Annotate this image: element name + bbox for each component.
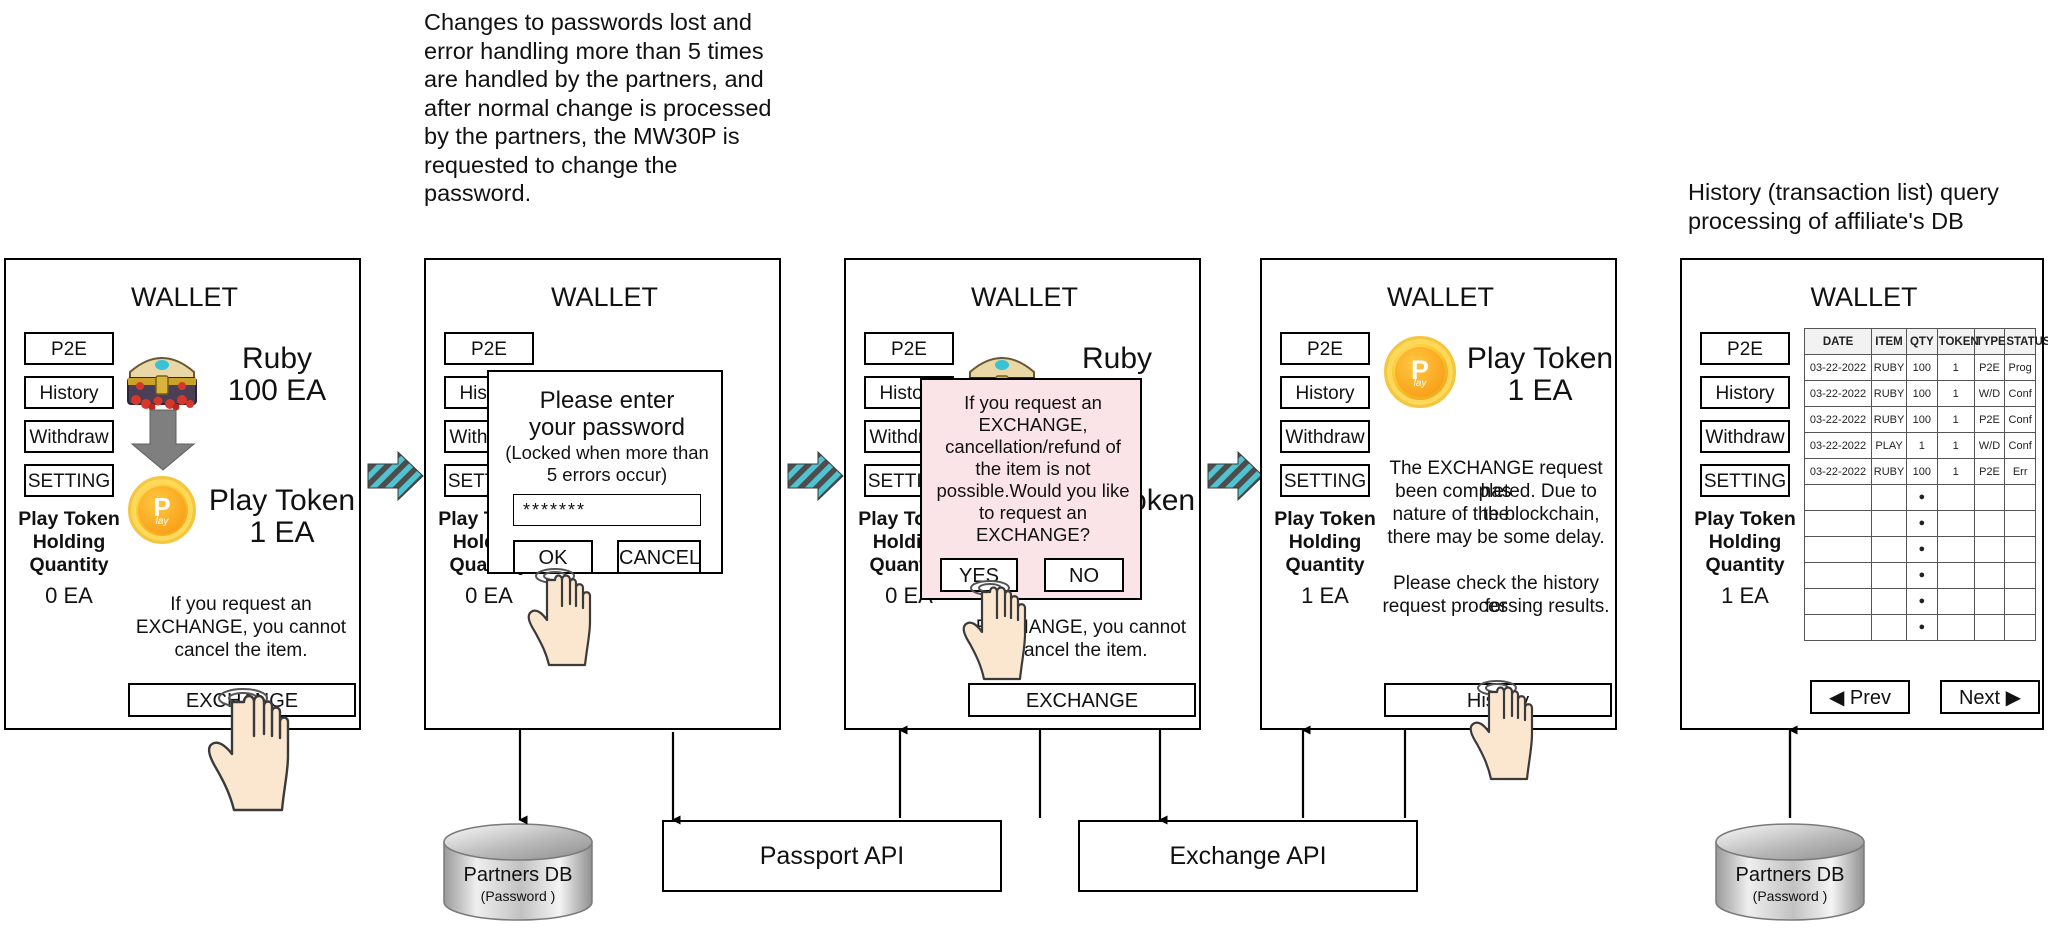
cancel-button[interactable]: CANCEL <box>617 540 701 574</box>
annotation-history-note: History (transaction list) query process… <box>1688 178 2038 235</box>
asset-to-quantity: 1 EA <box>1464 374 1616 408</box>
result-message-line3: nature of the blockchain, <box>1380 503 1612 526</box>
table-cell-empty <box>1937 563 1974 589</box>
partners-db-sublabel: (Password ) <box>438 888 598 904</box>
table-cell: 03-22-2022 <box>1805 407 1872 433</box>
asset-to-name: Play Token <box>202 484 362 518</box>
table-header-status: STATUS <box>2005 329 2036 355</box>
table-header-date: DATE <box>1805 329 1872 355</box>
hand-cursor-icon <box>955 572 1033 684</box>
table-cell-empty: ● <box>1907 563 1938 589</box>
table-header-row: DATEITEMQTYTOKENTYPESTATUS <box>1805 329 2036 355</box>
table-cell-empty: ● <box>1907 511 1938 537</box>
panel-wallet-exchange: WALLET P2E History Withdraw SETTING Play… <box>4 258 361 730</box>
hand-cursor-icon <box>520 560 598 670</box>
table-cell: 1 <box>1937 355 1974 381</box>
table-cell: Conf <box>2005 407 2036 433</box>
panel-history-list: WALLET P2E History Withdraw SETTING Play… <box>1680 258 2044 730</box>
asset-from-name: Ruby <box>1042 342 1192 376</box>
confirm-message-line1: If you request an <box>922 392 1144 414</box>
table-cell-empty <box>1974 485 2005 511</box>
holding-label-line1: Play Token <box>1268 508 1382 531</box>
annotation-password-note: Changes to passwords lost and error hand… <box>424 8 784 208</box>
table-cell-empty <box>1937 485 1974 511</box>
table-row-empty: ● <box>1805 511 2036 537</box>
table-cell: Prog <box>2005 355 2036 381</box>
table-row-empty: ● <box>1805 615 2036 641</box>
table-header-type: TYPE <box>1974 329 2005 355</box>
table-cell-empty <box>1872 589 1907 615</box>
table-cell: P2E <box>1974 355 2005 381</box>
table-cell-empty <box>1872 563 1907 589</box>
sidebar-item-p2e[interactable]: P2E <box>1280 332 1370 365</box>
table-cell: RUBY <box>1872 381 1907 407</box>
holding-label-line1: Play Token <box>1686 508 1804 531</box>
table-row[interactable]: 03-22-2022RUBY1001W/DConf <box>1805 381 2036 407</box>
table-cell: 1 <box>1937 459 1974 485</box>
confirm-message-line5: possible.Would you like <box>922 480 1144 502</box>
transaction-history-table: DATEITEMQTYTOKENTYPESTATUS 03-22-2022RUB… <box>1804 328 2036 641</box>
sidebar-item-setting[interactable]: SETTING <box>24 464 114 497</box>
asset-from-quantity: 100 EA <box>202 374 352 408</box>
confirm-message-line3: cancellation/refund of <box>922 436 1144 458</box>
table-cell: P2E <box>1974 407 2005 433</box>
table-header-qty: QTY <box>1907 329 1938 355</box>
exchange-warning-line1: If you request an <box>126 593 356 616</box>
table-cell-empty <box>1974 511 2005 537</box>
table-cell: 100 <box>1907 355 1938 381</box>
holding-label-line3: Quantity <box>12 554 126 577</box>
table-cell-empty <box>1974 537 2005 563</box>
table-cell-empty <box>1805 537 1872 563</box>
table-cell-empty <box>1937 511 1974 537</box>
asset-from-name: Ruby <box>202 342 352 376</box>
treasure-chest-icon <box>120 338 204 410</box>
table-cell: Conf <box>2005 433 2036 459</box>
exchange-warning-line3: cancel the item. <box>126 639 356 662</box>
sidebar-item-withdraw[interactable]: Withdraw <box>24 420 114 453</box>
table-cell: Conf <box>2005 381 2036 407</box>
confirm-message-line4: the item is not <box>922 458 1144 480</box>
table-cell-empty <box>1805 563 1872 589</box>
table-cell: P2E <box>1974 459 2005 485</box>
dialog-title-line2: your password <box>489 413 725 442</box>
sidebar-item-withdraw[interactable]: Withdraw <box>1700 420 1790 453</box>
flow-connectors-up <box>0 718 2048 878</box>
panel-exchange-result: WALLET P2E History Withdraw SETTING Play… <box>1260 258 1617 730</box>
hand-cursor-icon <box>1462 672 1540 784</box>
holding-quantity-value: 0 EA <box>12 583 126 609</box>
table-row-empty: ● <box>1805 563 2036 589</box>
history-table: DATEITEMQTYTOKENTYPESTATUS 03-22-2022RUB… <box>1804 328 2036 641</box>
play-token-coin-icon: P lay <box>1384 336 1456 408</box>
table-cell: 100 <box>1907 381 1938 407</box>
flow-arrow-2-icon <box>788 450 844 502</box>
table-cell: 03-22-2022 <box>1805 381 1872 407</box>
table-cell: PLAY <box>1872 433 1907 459</box>
table-cell: W/D <box>1974 433 2005 459</box>
table-cell: 100 <box>1907 407 1938 433</box>
table-cell-empty <box>2005 615 2036 641</box>
confirm-message-line7: EXCHANGE? <box>922 524 1144 546</box>
table-row-empty: ● <box>1805 589 2036 615</box>
sidebar-item-setting[interactable]: SETTING <box>1280 464 1370 497</box>
holding-quantity-value: 1 EA <box>1268 583 1382 609</box>
table-cell: 03-22-2022 <box>1805 355 1872 381</box>
table-cell-empty <box>1805 589 1872 615</box>
table-cell-empty <box>1937 589 1974 615</box>
table-cell-empty <box>1974 589 2005 615</box>
table-cell-empty <box>1805 511 1872 537</box>
confirm-message-line6: to request an <box>922 502 1144 524</box>
table-cell: 03-22-2022 <box>1805 433 1872 459</box>
table-row[interactable]: 03-22-2022PLAY11W/DConf <box>1805 433 2036 459</box>
table-cell-empty: ● <box>1907 589 1938 615</box>
table-cell-empty <box>1805 485 1872 511</box>
holding-label-line2: Holding <box>12 531 126 554</box>
holding-label-line3: Quantity <box>1268 554 1382 577</box>
table-cell-empty: ● <box>1907 537 1938 563</box>
table-cell-empty <box>1974 615 2005 641</box>
table-row[interactable]: 03-22-2022RUBY1001P2EErr <box>1805 459 2036 485</box>
sidebar-item-history[interactable]: History <box>1700 376 1790 409</box>
dialog-subtitle-line1: (Locked when more than <box>489 442 725 464</box>
table-cell-empty <box>2005 589 2036 615</box>
table-cell: 1 <box>1907 433 1938 459</box>
password-dialog: Please enter your password (Locked when … <box>487 370 723 574</box>
password-input[interactable]: ******* <box>513 494 701 526</box>
exchange-confirm-dialog: If you request an EXCHANGE, cancellation… <box>920 378 1142 600</box>
table-cell-empty <box>1937 615 1974 641</box>
confirm-message-line2: EXCHANGE, <box>922 414 1144 436</box>
holding-label-line1: Play Token <box>12 508 126 531</box>
sidebar-item-withdraw[interactable]: Withdraw <box>1280 420 1370 453</box>
table-header-item: ITEM <box>1872 329 1907 355</box>
holding-label-line2: Holding <box>1268 531 1382 554</box>
convert-arrow-icon <box>130 410 196 472</box>
sidebar-item-setting[interactable]: SETTING <box>1700 464 1790 497</box>
table-cell-empty <box>1974 563 2005 589</box>
table-cell: Err <box>2005 459 2036 485</box>
table-cell-empty <box>1872 511 1907 537</box>
holding-label-line2: Holding <box>1686 531 1804 554</box>
flow-arrow-1-icon <box>368 450 424 502</box>
play-token-coin-icon: P lay <box>128 476 196 544</box>
dialog-title-line1: Please enter <box>489 386 725 415</box>
table-cell: 1 <box>1937 381 1974 407</box>
table-cell-empty <box>2005 511 2036 537</box>
table-cell: 1 <box>1937 433 1974 459</box>
sidebar-item-p2e[interactable]: P2E <box>444 332 534 365</box>
page-title: WALLET <box>846 282 1203 313</box>
table-cell-empty: ● <box>1907 485 1938 511</box>
table-row-empty: ● <box>1805 485 2036 511</box>
table-cell: 100 <box>1907 459 1938 485</box>
result-message-line4: there may be some delay. <box>1380 526 1612 549</box>
asset-to-name: Play Token <box>1464 342 1616 376</box>
flow-arrow-3-icon <box>1208 450 1264 502</box>
table-cell-empty <box>1805 615 1872 641</box>
page-title: WALLET <box>1262 282 1619 313</box>
sidebar-item-p2e[interactable]: P2E <box>864 332 954 365</box>
table-cell: 03-22-2022 <box>1805 459 1872 485</box>
holding-label-line3: Quantity <box>1686 554 1804 577</box>
page-title: WALLET <box>6 282 363 313</box>
table-cell-empty <box>1872 485 1907 511</box>
table-cell: RUBY <box>1872 459 1907 485</box>
result-message2-line2: request processing results. <box>1380 595 1612 618</box>
table-header-token: TOKEN <box>1937 329 1974 355</box>
table-cell: 1 <box>1937 407 1974 433</box>
table-row[interactable]: 03-22-2022RUBY1001P2EProg <box>1805 355 2036 381</box>
table-cell-empty: ● <box>1907 615 1938 641</box>
no-button[interactable]: NO <box>1044 558 1124 592</box>
prev-page-button[interactable]: ◀ Prev <box>1810 680 1910 714</box>
table-row-empty: ● <box>1805 537 2036 563</box>
page-title: WALLET <box>1682 282 2046 313</box>
sidebar-item-history[interactable]: History <box>24 376 114 409</box>
table-cell-empty <box>2005 563 2036 589</box>
table-cell: W/D <box>1974 381 2005 407</box>
table-cell-empty <box>2005 485 2036 511</box>
page-title: WALLET <box>426 282 783 313</box>
table-cell-empty <box>2005 537 2036 563</box>
exchange-button[interactable]: EXCHANGE <box>968 683 1196 717</box>
table-row[interactable]: 03-22-2022RUBY1001P2EConf <box>1805 407 2036 433</box>
next-page-button[interactable]: Next ▶ <box>1940 680 2040 714</box>
exchange-warning-line2: EXCHANGE, you cannot <box>126 616 356 639</box>
sidebar-item-history[interactable]: History <box>1280 376 1370 409</box>
partners-db-sublabel: (Password ) <box>1710 888 1870 904</box>
table-cell-empty <box>1872 537 1907 563</box>
dialog-subtitle-line2: 5 errors occur) <box>489 464 725 486</box>
table-cell: RUBY <box>1872 407 1907 433</box>
sidebar-item-p2e[interactable]: P2E <box>24 332 114 365</box>
hand-cursor-icon <box>196 676 300 816</box>
holding-quantity-value: 1 EA <box>1686 583 1804 609</box>
sidebar-item-p2e[interactable]: P2E <box>1700 332 1790 365</box>
table-cell-empty <box>1937 537 1974 563</box>
table-cell: RUBY <box>1872 355 1907 381</box>
table-cell-empty <box>1872 615 1907 641</box>
asset-to-quantity: 1 EA <box>202 516 362 550</box>
